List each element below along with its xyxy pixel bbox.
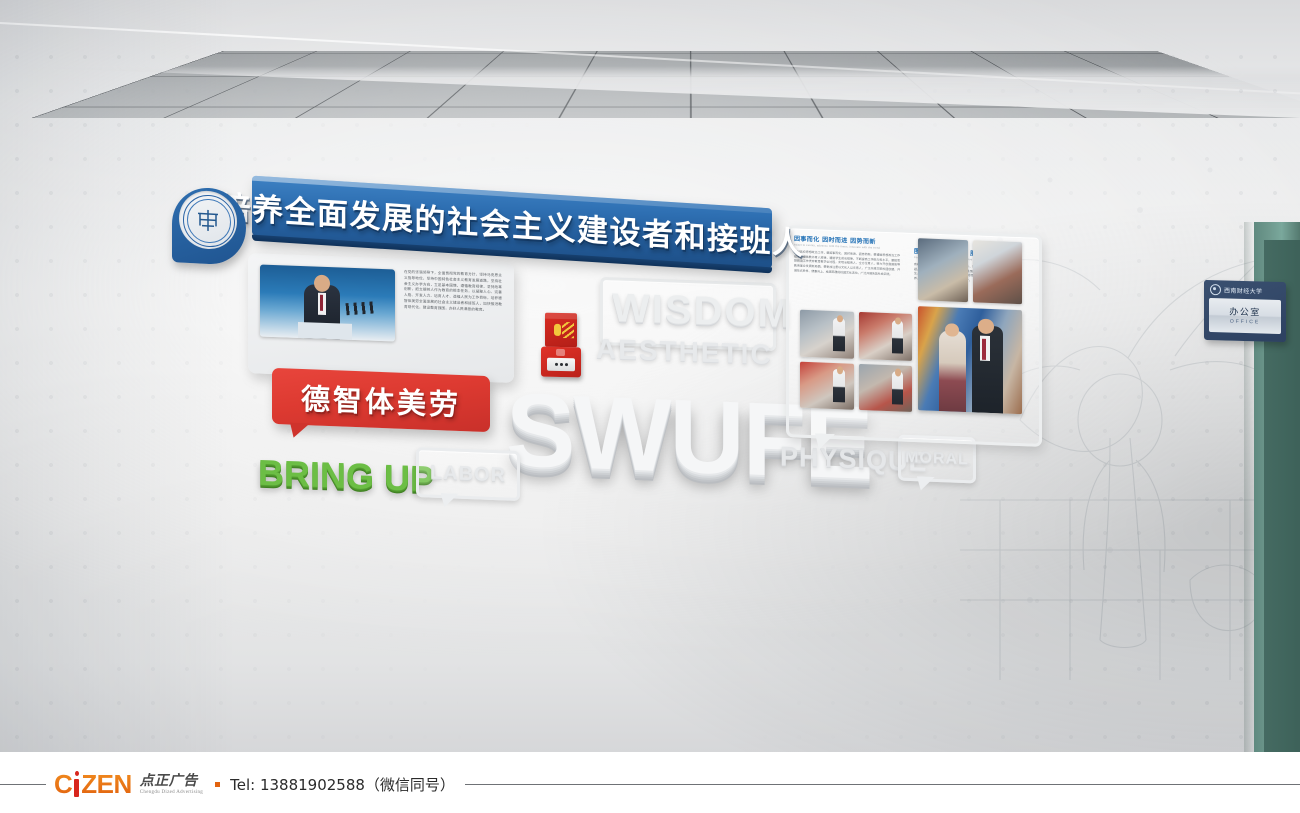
logo-dot-icon: [75, 771, 79, 776]
red-slogan-text: 德智体美劳: [301, 376, 461, 424]
left-panel-body: 在党的坚强领导下，全面贯彻党的教育方针，坚持马克思主义指导地位，坚持中国特色社会…: [404, 270, 502, 314]
plate-header: [545, 313, 577, 320]
office-door-sign: 西南财经大学 办公室 OFFICE: [1204, 280, 1286, 342]
alarm-rays-icon: [562, 322, 574, 338]
brand-name-en: Chengdu Dized Advertising: [140, 790, 203, 795]
call-point-window: [547, 358, 575, 372]
hand-icon: [554, 324, 561, 336]
logo-bar-icon: [74, 779, 79, 797]
labor-bubble: LABOR: [416, 447, 520, 501]
brand-name-cn: 点正广告: [140, 774, 203, 788]
fire-alarm-instruction-plate: [545, 313, 577, 348]
photo-grid-left: [800, 310, 912, 412]
indicator-dot: [560, 363, 563, 366]
office-sign-room-cn: 办公室: [1229, 307, 1261, 317]
culture-wall-photo: 西南财经大学 办公室 OFFICE SWUFE WISDOM AES: [0, 0, 1300, 752]
logo-letters-zen: ZEN: [81, 772, 132, 797]
office-sign-university: 西南财经大学: [1224, 285, 1262, 295]
wall-word-bring-up: BRING UP: [258, 452, 434, 501]
screenshot-canvas: 西南财经大学 办公室 OFFICE SWUFE WISDOM AES: [0, 0, 1300, 813]
indicator-dot: [565, 363, 568, 366]
grid-photo: [800, 361, 854, 410]
wall-word-labor: LABOR: [430, 461, 506, 487]
feature-photo: [918, 306, 1022, 414]
footer-rule-right: [465, 784, 1300, 785]
footer-watermark: C ZEN 点正广告 Chengdu Dized Advertising Tel…: [0, 752, 1300, 813]
brand-name-block: 点正广告 Chengdu Dized Advertising: [140, 774, 203, 795]
grid-photo: [800, 310, 854, 359]
left-info-panel: 在党的坚强领导下，全面贯彻党的教育方针，坚持马克思主义指导地位，坚持中国特色社会…: [248, 253, 514, 383]
logo-letter-i: [72, 771, 81, 797]
university-emblem-icon: [1210, 284, 1221, 295]
office-sign-room-en: OFFICE: [1230, 318, 1260, 325]
footer-telephone: Tel: 13881902588（微信同号）: [230, 774, 455, 795]
grid-photo: [973, 240, 1023, 304]
office-sign-logo: 西南财经大学: [1204, 280, 1286, 297]
grid-photo: [859, 312, 913, 361]
column-a-body: 做好高校思想政治工作，要因事而化、因时而进、因势而新。要遵循思想政治工作规律，遵…: [794, 249, 900, 276]
grid-photo: [918, 238, 968, 302]
cizen-logo: C ZEN: [54, 771, 132, 797]
indicator-dot: [555, 363, 558, 366]
university-emblem: [168, 180, 250, 270]
red-slogan-banner: 德智体美劳: [272, 368, 490, 432]
left-panel-text: 在党的坚强领导下，全面贯彻党的教育方针，坚持马克思主义指导地位，坚持中国特色社会…: [404, 270, 502, 346]
wall-word-wisdom: WISDOM: [612, 286, 793, 337]
speech-photo: [260, 265, 395, 342]
logo-letter-c: C: [54, 772, 72, 797]
footer-separator-icon: [215, 782, 220, 787]
wall-word-aesthetic: AESTHETIC: [596, 333, 773, 371]
photo-row-top: [918, 238, 1022, 304]
emblem-mark-icon: [195, 207, 221, 233]
office-sign-plate: 办公室 OFFICE: [1209, 298, 1281, 334]
wall-word-moral: MORAL: [905, 449, 969, 469]
call-point-label: [556, 349, 565, 356]
right-panel-content: 因事而化 因时而进 因势而新 Adapt to events, advance …: [792, 231, 1032, 436]
grid-photo: [859, 363, 913, 412]
footer-rule-left: [0, 784, 46, 785]
right-panel-column-a: 因事而化 因时而进 因势而新 Adapt to events, advance …: [794, 233, 900, 276]
